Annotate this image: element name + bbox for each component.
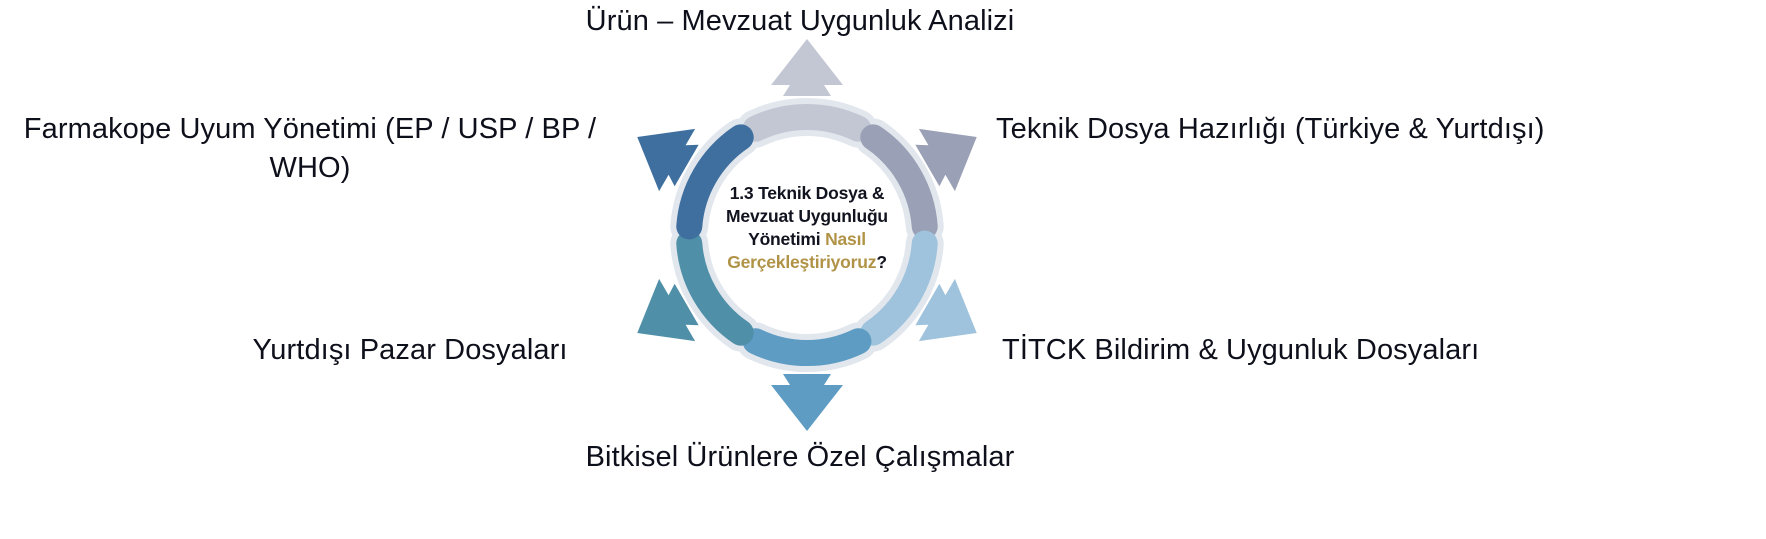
segment-arrow-bottom xyxy=(771,374,843,431)
segment-label-bottom-left: Yurtdışı Pazar Dosyaları xyxy=(200,331,620,370)
segment-label-bottom: Bitkisel Ürünlere Özel Çalışmalar xyxy=(460,438,1140,477)
segment-arc-bottom xyxy=(756,341,859,353)
segment-label-bottom-right: TİTCK Bildirim & Uygunluk Dosyaları xyxy=(1002,331,1762,370)
segment-label-top-right: Teknik Dosya Hazırlığı (Türkiye & Yurtdı… xyxy=(996,110,1766,149)
segment-arrow-top xyxy=(771,39,843,96)
cycle-wheel xyxy=(617,45,997,425)
diagram-canvas: Ürün – Mevzuat Uygunluk Analizi Teknik D… xyxy=(0,0,1766,539)
segment-label-top: Ürün – Mevzuat Uygunluk Analizi xyxy=(460,2,1140,41)
segment-label-left: Farmakope Uyum Yönetimi (EP / USP / BP /… xyxy=(0,110,620,188)
segment-arc-top xyxy=(756,117,859,129)
